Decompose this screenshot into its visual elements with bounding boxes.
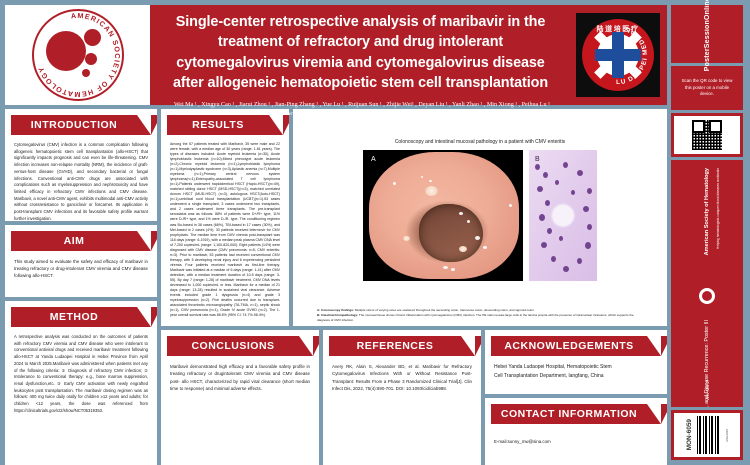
introduction-panel: INTRODUCTION Cytomegalovirus (CMV) infec… (5, 109, 157, 221)
ash-logo-circle-medium (84, 29, 101, 46)
introduction-title: INTRODUCTION (11, 115, 151, 135)
barcode-id-label: MON-6059 (686, 419, 693, 450)
figure-caption-bottom: A: Colonoscopy findings: Multiple ulcers… (293, 303, 667, 326)
contact-email[interactable]: E-mail:sunny_mw@sina.com (485, 424, 667, 454)
figure-caption-b-lead: B: Intestinal histopathology: (317, 313, 358, 317)
acknowledgements-body: Hebei Yanda Ludaopei Hospital, Hematopoi… (485, 356, 667, 389)
barcode-block: MON-6059 ASH2025 (671, 410, 743, 460)
banner-author-label: Wei Ma Jr (705, 380, 710, 401)
ash-logo-circle-tiny (82, 69, 90, 77)
results-title: RESULTS (167, 115, 283, 135)
acknowledgements-line-1: Hebei Yanda Ludaopei Hospital, Hematopoi… (494, 363, 658, 372)
poster-sidebar: PosterSessionOnline Scan the QR code to … (671, 5, 745, 460)
bottom-row: CONCLUSIONS Maribavir demonstrated high … (161, 330, 667, 465)
conclusions-body: Maribavir demonstrated high efficacy and… (161, 356, 319, 400)
acknowledgements-line-2: Cell Transplantation Department, langfan… (494, 372, 658, 381)
page-title: Single-center retrospective analysis of … (164, 12, 557, 94)
hospital-logo-icon: 陆道培医疗 LU DAOPEI MEDICAL (576, 13, 660, 97)
aim-body: This study aimed to evaluate the safety … (5, 251, 157, 288)
hospital-logo-container: 陆道培医疗 LU DAOPEI MEDICAL (569, 5, 667, 105)
ash-logo-circle-small (85, 53, 97, 65)
results-panel: RESULTS Among the 57 patients treated wi… (161, 109, 289, 326)
references-title: REFERENCES (329, 336, 475, 356)
acknowledgements-panel: ACKNOWLEDGEMENTS Hebei Yanda Ludaopei Ho… (485, 330, 667, 394)
results-body: Among the 57 patients treated with Marib… (161, 135, 289, 326)
method-panel: METHOD A retrospective analysis was cond… (5, 301, 157, 465)
results-row: RESULTS Among the 57 patients treated wi… (161, 109, 667, 326)
barcode-icon (697, 416, 721, 454)
conclusions-title: CONCLUSIONS (167, 336, 313, 356)
acknowledgements-title: ACKNOWLEDGEMENTS (491, 336, 661, 356)
figure-images: A (293, 150, 667, 303)
contact-panel: CONTACT INFORMATION E-mail:sunny_mw@sina… (485, 398, 667, 465)
aim-panel: AIM This study aimed to evaluate the saf… (5, 225, 157, 297)
svg-text:LU DAOPEI MEDICAL: LU DAOPEI MEDICAL (616, 25, 649, 86)
poster-header: AMERICAN SOCIETY OF HEMATOLOGY Single-ce… (5, 5, 667, 105)
qr-code-container[interactable] (671, 113, 743, 157)
references-body: Avery RK, Alain S, Alexander BD, et al. … (323, 356, 481, 400)
figure-panel-a-label: A (371, 156, 376, 163)
ash-mark-icon (699, 288, 715, 304)
left-column: INTRODUCTION Cytomegalovirus (CMV) infec… (5, 109, 157, 465)
session-banner: American Society of Hematology Helping h… (671, 160, 743, 407)
colonoscopy-image: A (363, 150, 523, 281)
poster-content: INTRODUCTION Cytomegalovirus (CMV) infec… (5, 109, 667, 465)
poster-session-online-label: PosterSessionOnline (704, 0, 711, 71)
poster-session-online-badge: PosterSessionOnline (671, 5, 743, 63)
figure-panel-b-label: B (535, 156, 540, 163)
hospital-logo-circle: 陆道培医疗 LU DAOPEI MEDICAL (582, 19, 654, 91)
scan-instruction: Scan the QR code to view this poster on … (671, 66, 743, 110)
banner-society-tagline: Helping hematologists conquer blood dise… (716, 168, 720, 249)
hospital-logo-arc-text-icon: LU DAOPEI MEDICAL (582, 19, 654, 91)
figure-caption-b-text: The mucosal tissue shows chronic inflamm… (317, 313, 634, 322)
method-title: METHOD (11, 307, 151, 327)
poster-body: AMERICAN SOCIETY OF HEMATOLOGY Single-ce… (5, 5, 667, 460)
ash-logo-circle-large (46, 31, 86, 71)
barcode-sub-label: ASH2025 (725, 429, 729, 442)
qr-code-icon[interactable] (692, 120, 722, 150)
contact-title: CONTACT INFORMATION (491, 404, 661, 424)
figure-panel: Colonoscopy and intestinal mucosal patho… (293, 109, 667, 326)
references-panel: REFERENCES Avery RK, Alain S, Alexander … (323, 330, 481, 465)
ash-logo-container: AMERICAN SOCIETY OF HEMATOLOGY (5, 5, 150, 105)
right-stack: ACKNOWLEDGEMENTS Hebei Yanda Ludaopei Ho… (485, 330, 667, 465)
figure-caption-a-lead: A: Colonoscopy findings: (317, 308, 354, 312)
figure-caption-a-text: Multiple ulcers of varying sizes are sca… (354, 308, 535, 312)
introduction-body: Cytomegalovirus (CMV) infection is a com… (5, 135, 157, 221)
poster-root: AMERICAN SOCIETY OF HEMATOLOGY Single-ce… (0, 0, 750, 465)
aim-title: AIM (11, 231, 151, 251)
title-block: Single-center retrospective analysis of … (150, 5, 569, 105)
right-columns: RESULTS Among the 57 patients treated wi… (161, 109, 667, 465)
conclusions-panel: CONCLUSIONS Maribavir demonstrated high … (161, 330, 319, 465)
histopathology-image: B (529, 150, 597, 281)
figure-caption-top: Colonoscopy and intestinal mucosal patho… (293, 139, 667, 145)
method-body: A retrospective analysis was conducted o… (5, 327, 157, 423)
ash-logo-icon: AMERICAN SOCIETY OF HEMATOLOGY (32, 9, 124, 101)
